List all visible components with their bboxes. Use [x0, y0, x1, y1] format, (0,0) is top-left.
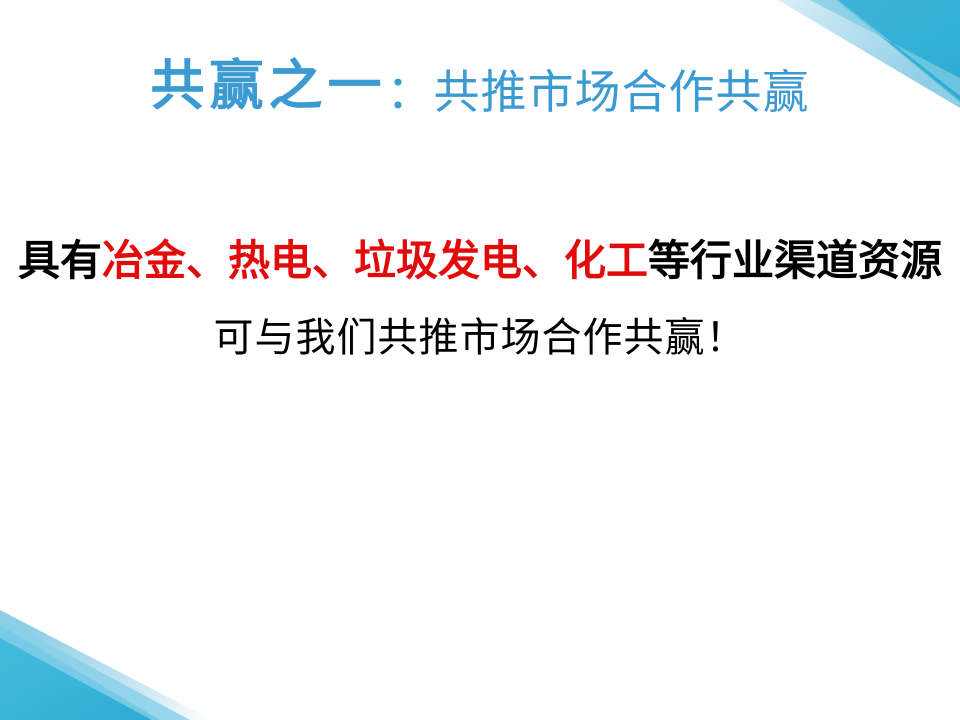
ribbon-solid-band [0, 625, 160, 720]
body-line-1: 具有冶金、热电、垃圾发电、化工等行业渠道资源 [0, 240, 960, 282]
body-line-1-highlight: 冶金、热电、垃圾发电、化工 [102, 237, 648, 284]
slide-title: 共赢之一：共推市场合作共赢 [0, 58, 960, 112]
ribbon-sliver [0, 618, 190, 720]
body-line-1-prefix: 具有 [18, 237, 102, 284]
body-line-1-suffix: 等行业渠道资源 [648, 237, 942, 284]
ribbon-light-band [0, 610, 212, 720]
decoration-bottom-left [0, 580, 300, 720]
body-line-2: 可与我们共推市场合作共赢！ [0, 318, 960, 358]
title-main-text: 共赢之一 [151, 53, 387, 117]
title-sub-text: ：共推市场合作共赢 [387, 67, 810, 118]
slide-body: 具有冶金、热电、垃圾发电、化工等行业渠道资源 可与我们共推市场合作共赢！ [0, 240, 960, 358]
slide-canvas: 共赢之一：共推市场合作共赢 具有冶金、热电、垃圾发电、化工等行业渠道资源 可与我… [0, 0, 960, 720]
body-line-2-text: 可与我们共推市场合作共赢！ [214, 316, 747, 360]
